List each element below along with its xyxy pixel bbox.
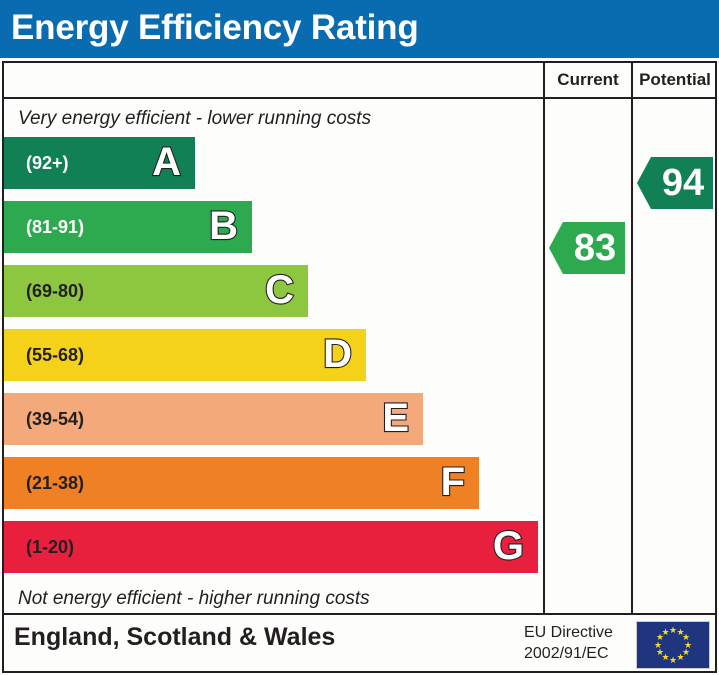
band-letter-g: G — [493, 521, 524, 573]
band-range-label: (1-20) — [26, 521, 74, 573]
rating-band-a: (92+)A — [4, 137, 195, 189]
rating-band-d: (55-68)D — [4, 329, 366, 381]
caption-efficient: Very energy efficient - lower running co… — [18, 108, 371, 130]
header-rule — [2, 97, 717, 99]
eu-flag-icon: ★★★★★★★★★★★★ — [636, 621, 710, 669]
band-letter-a: A — [152, 137, 181, 189]
eu-directive-line2: 2002/91/EC — [524, 643, 628, 664]
rating-band-c: (69-80)C — [4, 265, 308, 317]
band-range-label: (55-68) — [26, 329, 84, 381]
rating-arrow-potential: 94 — [637, 157, 713, 209]
caption-inefficient: Not energy efficient - higher running co… — [18, 588, 370, 610]
rating-band-e: (39-54)E — [4, 393, 423, 445]
energy-efficiency-rating-chart: Energy Efficiency Rating Current Potenti… — [0, 0, 719, 675]
rating-band-g: (1-20)G — [4, 521, 538, 573]
eu-flag-star: ★ — [661, 628, 670, 637]
rating-band-b: (81-91)B — [4, 201, 252, 253]
column-separator-potential — [631, 61, 633, 615]
band-range-label: (39-54) — [26, 393, 84, 445]
band-letter-f: F — [441, 457, 465, 509]
page-title: Energy Efficiency Rating — [11, 6, 419, 50]
band-letter-b: B — [209, 201, 238, 253]
band-range-label: (21-38) — [26, 457, 84, 509]
footer-region-label: England, Scotland & Wales — [14, 623, 335, 652]
column-header-potential: Potential — [633, 63, 717, 97]
rating-band-f: (21-38)F — [4, 457, 479, 509]
column-header-current: Current — [545, 63, 631, 97]
eu-directive-text: EU Directive 2002/91/EC — [524, 622, 628, 664]
band-letter-e: E — [382, 393, 409, 445]
band-range-label: (81-91) — [26, 201, 84, 253]
title-bar: Energy Efficiency Rating — [0, 0, 719, 58]
band-letter-d: D — [323, 329, 352, 381]
band-range-label: (92+) — [26, 137, 69, 189]
band-letter-c: C — [265, 265, 294, 317]
eu-directive-line1: EU Directive — [524, 622, 628, 643]
band-range-label: (69-80) — [26, 265, 84, 317]
footer-rule — [2, 613, 717, 615]
column-separator-current — [543, 61, 545, 615]
rating-arrow-current: 83 — [549, 222, 625, 274]
